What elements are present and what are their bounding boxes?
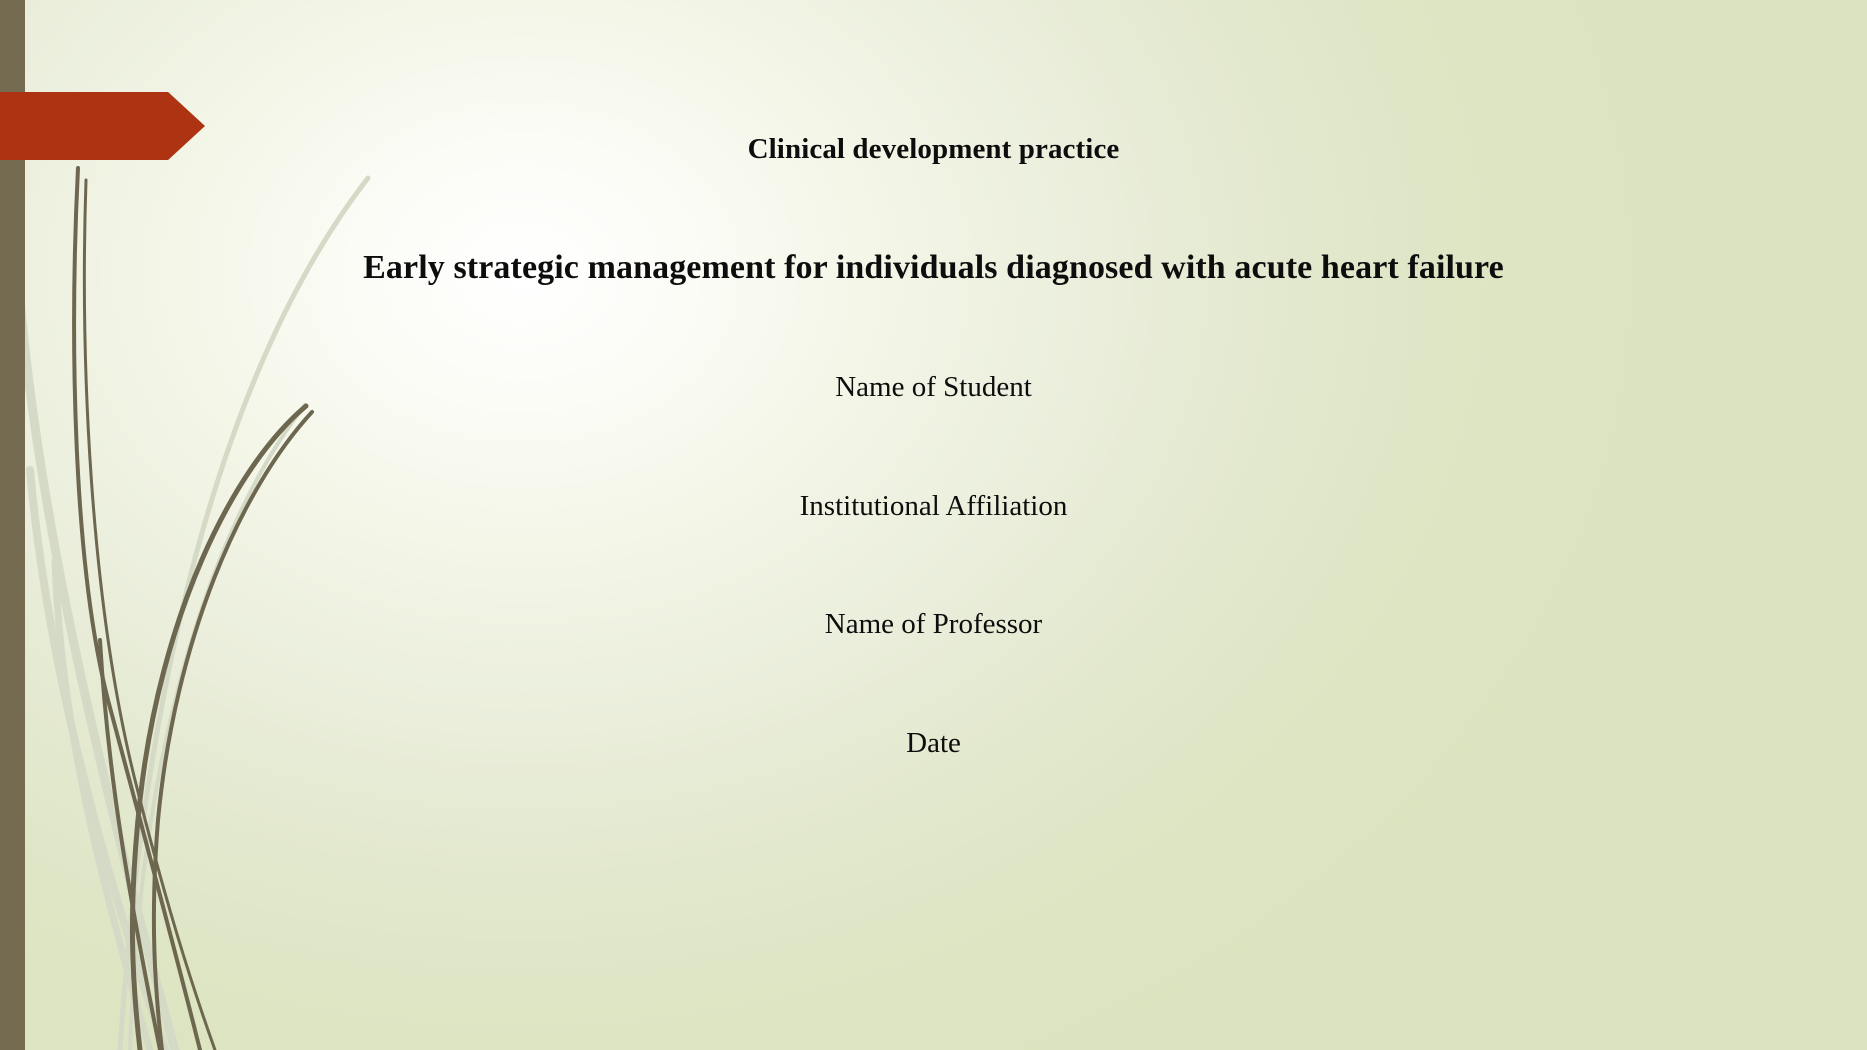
slide-subtitle: Early strategic management for individua…: [0, 249, 1867, 287]
student-name-placeholder: Name of Student: [0, 371, 1867, 404]
slide-title: Clinical development practice: [0, 133, 1867, 166]
professor-name-placeholder: Name of Professor: [0, 608, 1867, 641]
slide-text-layer: Clinical development practice Early stra…: [0, 0, 1867, 1050]
institutional-affiliation-placeholder: Institutional Affiliation: [0, 490, 1867, 523]
date-placeholder: Date: [0, 727, 1867, 760]
presentation-slide: Clinical development practice Early stra…: [0, 0, 1867, 1050]
